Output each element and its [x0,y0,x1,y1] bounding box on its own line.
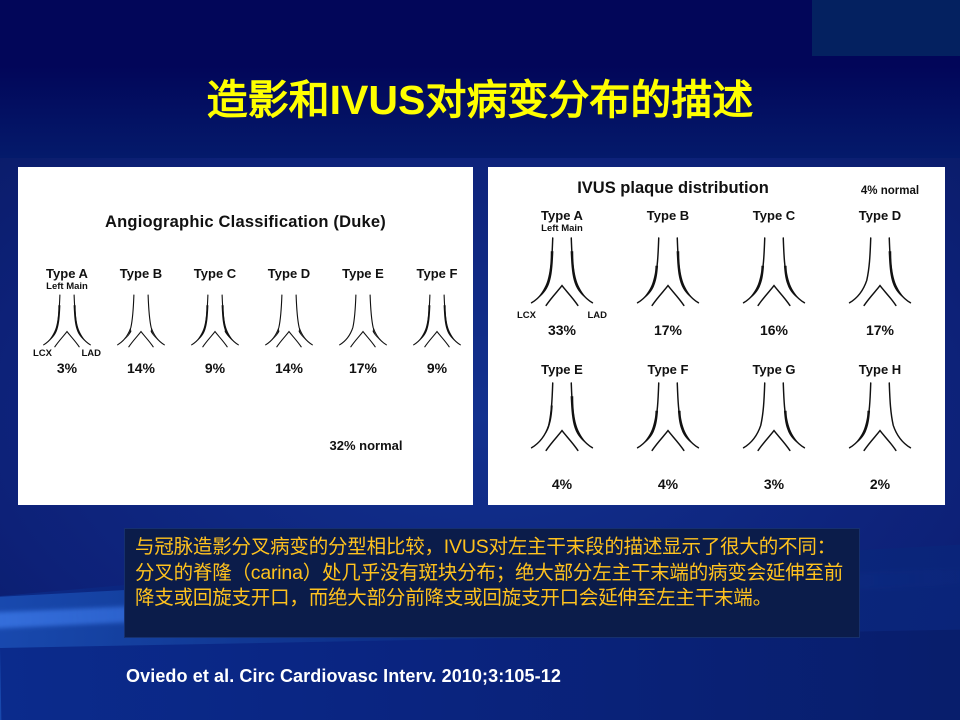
vessel-artwork [328,281,398,361]
lesion-type-cell: Type D17% [832,209,928,337]
lesion-type-label: Type G [726,363,822,377]
left-main-label: Left Main [541,223,583,234]
vessel-artwork [620,377,716,477]
lesion-type-label: Type C [180,267,250,281]
ivus-normal-note: 4% normal [840,185,940,197]
vessel-artwork: Left MainLCXLAD [32,281,102,361]
lesion-percentage-label: 17% [832,323,928,337]
lesion-type-label: Type A [514,209,610,223]
figure-title-ivus: IVUS plaque distribution [508,179,838,198]
citation-text: Oviedo et al. Circ Cardiovasc Interv. 20… [126,666,561,687]
lcx-label: LCX [517,310,536,321]
lesion-type-cell: Type C16% [726,209,822,337]
bifurcation-diagram [631,234,705,320]
vessel-artwork [180,281,250,361]
lesion-percentage-label: 4% [514,477,610,491]
bifurcation-diagram [737,234,811,320]
lad-label: LAD [587,310,607,321]
vessel-artwork [726,223,822,323]
lesion-type-cell: Type ALeft MainLCXLAD33% [514,209,610,337]
lad-label: LAD [81,348,101,359]
lesion-percentage-label: 4% [620,477,716,491]
lesion-percentage-label: 9% [402,361,472,375]
lesion-percentage-label: 16% [726,323,822,337]
vessel-artwork [832,223,928,323]
slide-title: 造影和IVUS对病变分布的描述 [0,72,960,128]
caption-text: 与冠脉造影分叉病变的分型相比较，IVUS对左主干末段的描述显示了很大的不同：分叉… [135,535,849,612]
top-right-accent-block [812,0,960,56]
lesion-type-label: Type E [514,363,610,377]
caption-box: 与冠脉造影分叉病变的分型相比较，IVUS对左主干末段的描述显示了很大的不同：分叉… [124,528,860,638]
angiographic-normal-note: 32% normal [306,438,426,453]
lesion-type-cell: Type H2% [832,363,928,491]
lesion-type-cell: Type E17% [328,267,398,375]
lesion-type-cell: Type F9% [402,267,472,375]
bifurcation-diagram [843,379,917,465]
bifurcation-diagram [631,379,705,465]
lesion-type-cell: Type F4% [620,363,716,491]
lesion-type-label: Type H [832,363,928,377]
bifurcation-diagram [262,292,316,358]
lesion-type-label: Type C [726,209,822,223]
lesion-type-cell: Type B14% [106,267,176,375]
vessel-artwork [832,377,928,477]
lesion-percentage-label: 14% [254,361,324,375]
lesion-type-cell: Type E4% [514,363,610,491]
lesion-percentage-label: 9% [180,361,250,375]
lesion-type-label: Type F [402,267,472,281]
vessel-artwork [620,223,716,323]
lesion-percentage-label: 17% [620,323,716,337]
lesion-type-cell: Type G3% [726,363,822,491]
vessel-artwork [402,281,472,361]
lesion-type-cell: Type D14% [254,267,324,375]
figure-title-angiographic: Angiographic Classification (Duke) [18,213,473,232]
lesion-type-cell: Type B17% [620,209,716,337]
figure-panel-angiographic: Angiographic Classification (Duke) 32% n… [18,167,473,505]
bifurcation-diagram [843,234,917,320]
lesion-percentage-label: 14% [106,361,176,375]
vessel-artwork [106,281,176,361]
lesion-type-cell: Type ALeft MainLCXLAD3% [32,267,102,375]
lesion-percentage-label: 2% [832,477,928,491]
vessel-artwork [514,377,610,477]
lesion-type-label: Type B [620,209,716,223]
vessel-artwork [254,281,324,361]
bifurcation-diagram [525,379,599,465]
bifurcation-diagram [737,379,811,465]
bifurcation-diagram [410,292,464,358]
lesion-type-cell: Type C9% [180,267,250,375]
lesion-percentage-label: 33% [514,323,610,337]
bifurcation-diagram [336,292,390,358]
figure-panel-ivus: IVUS plaque distribution 4% normal Type … [488,167,945,505]
vessel-artwork: Left MainLCXLAD [514,223,610,323]
lcx-label: LCX [33,348,52,359]
lesion-percentage-label: 17% [328,361,398,375]
lesion-type-label: Type A [32,267,102,281]
lesion-type-label: Type F [620,363,716,377]
lesion-type-label: Type D [832,209,928,223]
lesion-type-label: Type E [328,267,398,281]
vessel-artwork [726,377,822,477]
bifurcation-diagram [114,292,168,358]
left-main-label: Left Main [46,281,88,292]
lesion-type-label: Type D [254,267,324,281]
bifurcation-diagram [525,234,599,320]
lesion-percentage-label: 3% [32,361,102,375]
lesion-type-label: Type B [106,267,176,281]
slide-canvas: 造影和IVUS对病变分布的描述 Angiographic Classificat… [0,0,960,720]
bifurcation-diagram [188,292,242,358]
lesion-percentage-label: 3% [726,477,822,491]
